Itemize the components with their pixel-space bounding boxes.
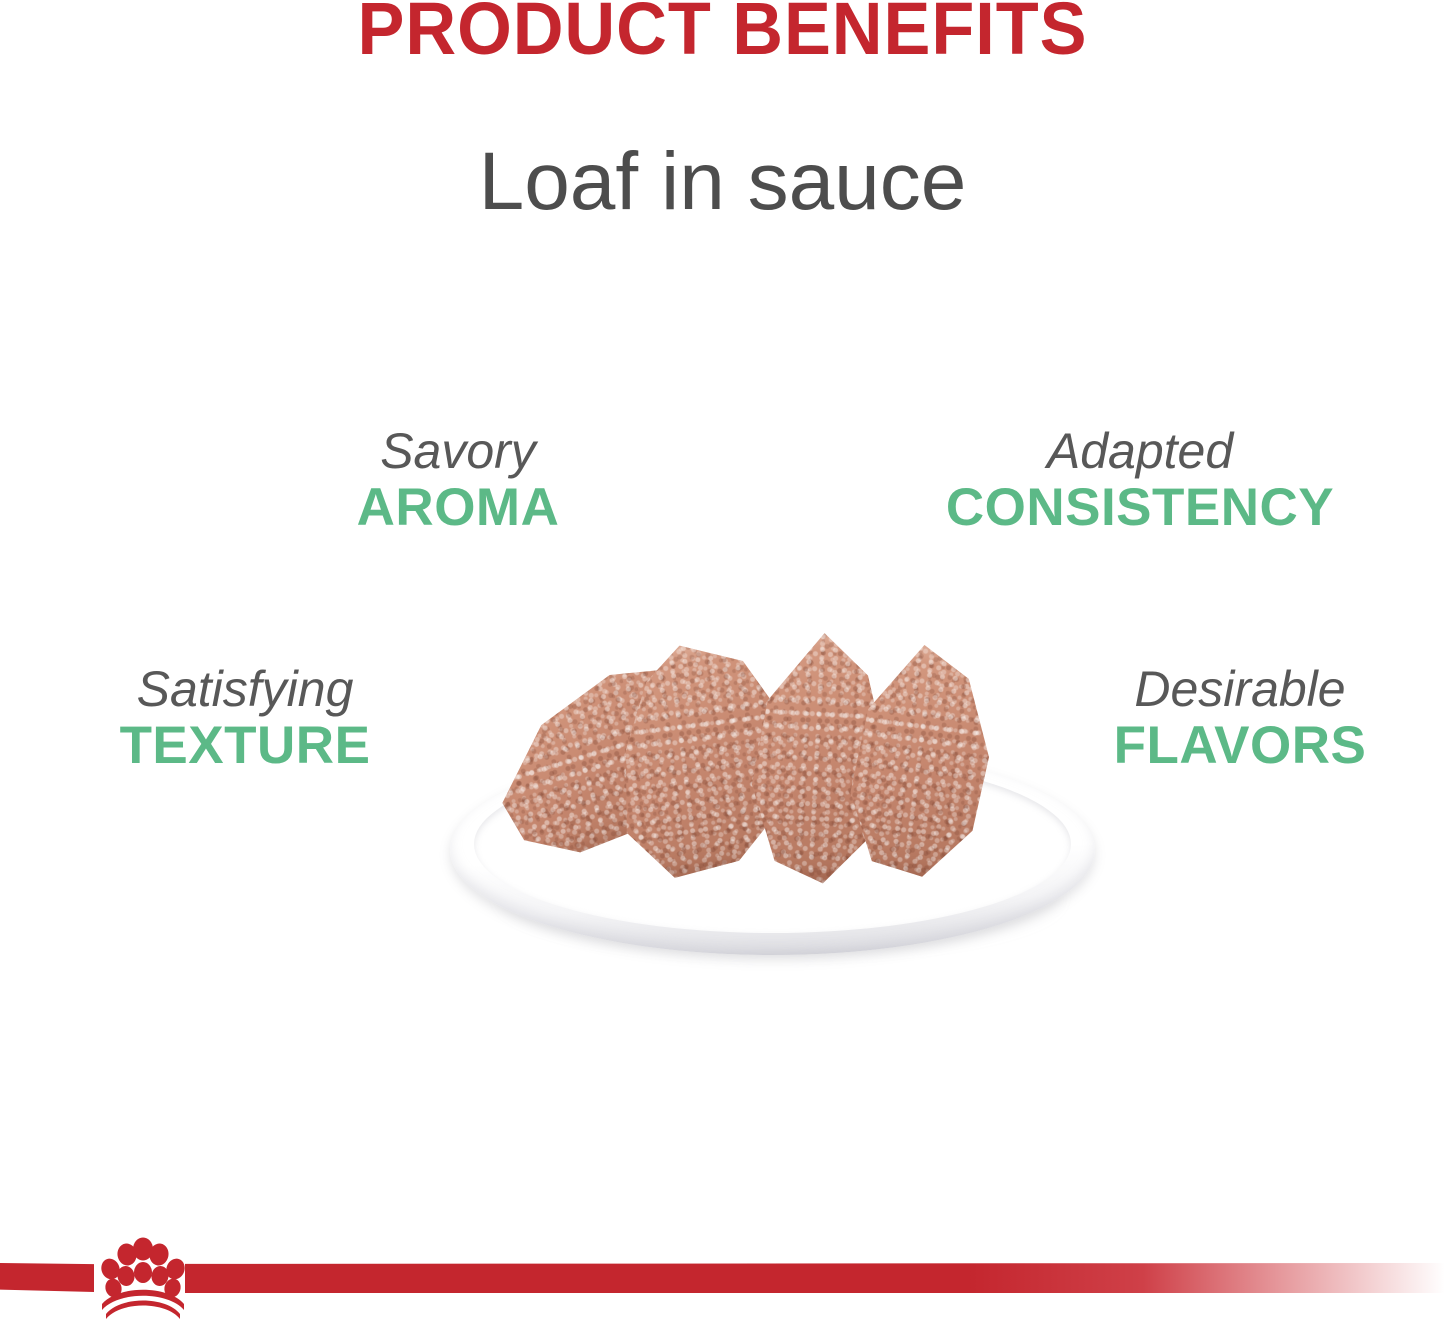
product-food-image (440, 615, 1105, 975)
benefit-keyword: TEXTURE (30, 716, 460, 776)
benefit-texture: Satisfying TEXTURE (30, 663, 460, 776)
page-title: PRODUCT BENEFITS (36, 0, 1409, 71)
benefit-aroma: Savory AROMA (258, 425, 658, 538)
benefit-keyword: CONSISTENCY (860, 478, 1420, 538)
benefit-keyword: AROMA (258, 478, 658, 538)
footer-rule-left (0, 1263, 94, 1292)
benefit-descriptor: Satisfying (30, 663, 460, 716)
benefit-consistency: Adapted CONSISTENCY (860, 425, 1420, 538)
benefit-descriptor: Adapted (860, 425, 1420, 478)
benefit-descriptor: Savory (258, 425, 658, 478)
page-subtitle: Loaf in sauce (0, 135, 1445, 229)
royal-canin-crown-logo (96, 1231, 190, 1319)
footer-rule-right (185, 1263, 1445, 1293)
